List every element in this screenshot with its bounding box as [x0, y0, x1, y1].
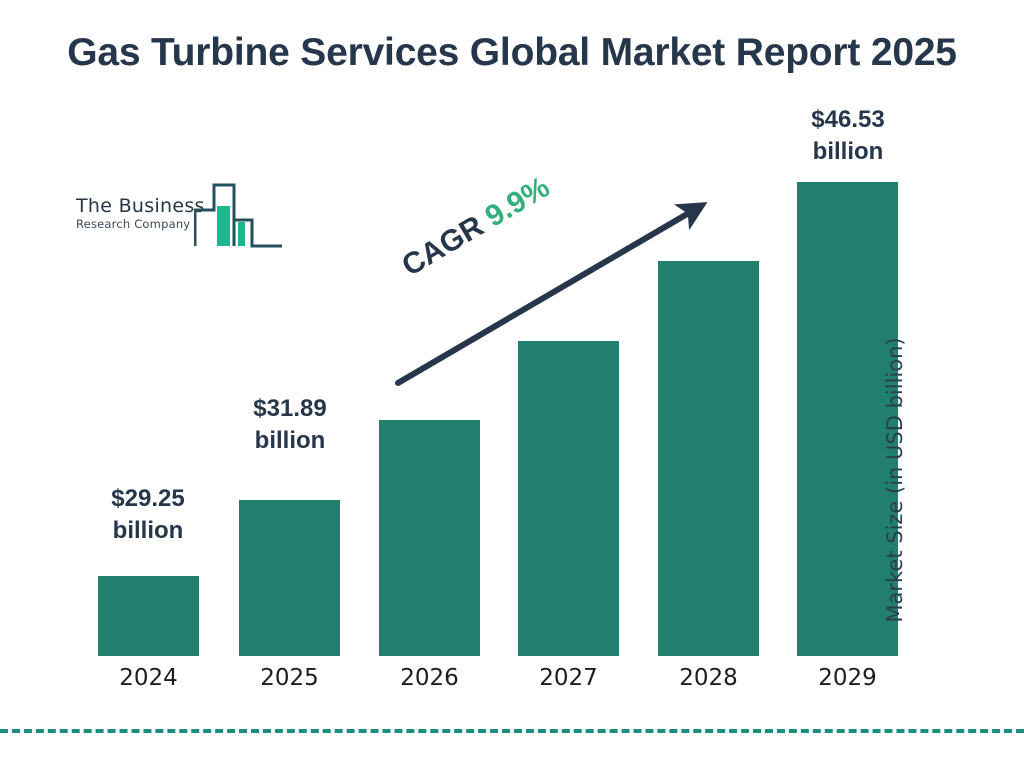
- bar-value-2025-amount: $31.89: [253, 395, 326, 422]
- x-tick-2027: 2027: [518, 664, 619, 692]
- bar-value-2024-unit: billion: [113, 517, 184, 544]
- x-tick-2026: 2026: [379, 664, 480, 692]
- x-tick-2025: 2025: [239, 664, 340, 692]
- bar-value-2025: $31.89 billion: [220, 393, 360, 457]
- bar-2027[interactable]: [518, 341, 619, 656]
- bar-value-2029: $46.53 billion: [778, 104, 918, 168]
- y-axis-title: Market Size (in USD billion): [883, 300, 907, 660]
- bar-value-2029-amount: $46.53: [811, 106, 884, 133]
- x-tick-2024: 2024: [98, 664, 199, 692]
- cagr-label-word: CAGR: [396, 210, 489, 283]
- bar-2025[interactable]: [239, 500, 340, 656]
- x-tick-2029: 2029: [797, 664, 898, 692]
- cagr-label-value: 9.9%: [480, 171, 556, 234]
- bar-2024[interactable]: [98, 576, 199, 656]
- bar-value-2024-amount: $29.25: [111, 485, 184, 512]
- bar-2026[interactable]: [379, 420, 480, 656]
- bar-2028[interactable]: [658, 261, 759, 656]
- footer-divider: [0, 729, 1024, 733]
- x-tick-2028: 2028: [658, 664, 759, 692]
- plot-area: $29.25 billion $31.89 billion $46.53 bil…: [0, 0, 1024, 768]
- bar-value-2024: $29.25 billion: [78, 483, 218, 547]
- bar-value-2029-unit: billion: [813, 138, 884, 165]
- cagr-annotation: CAGR 9.9%: [396, 171, 555, 284]
- bar-value-2025-unit: billion: [255, 427, 326, 454]
- chart-canvas: Gas Turbine Services Global Market Repor…: [0, 0, 1024, 768]
